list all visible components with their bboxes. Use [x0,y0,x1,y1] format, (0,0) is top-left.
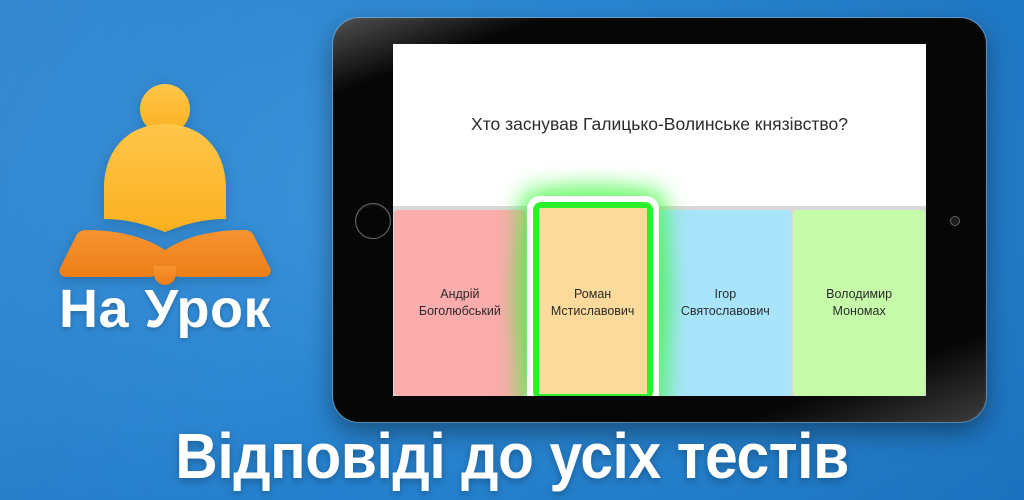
home-button-icon[interactable] [355,203,391,239]
answer-option-1-line1: Андрій [440,287,479,301]
answer-option-1[interactable]: Андрій Боголюбський [394,210,526,396]
answer-option-4-line1: Володимир [826,287,892,301]
brand-name-text: На Урок [36,282,294,336]
banner-tagline-text: Відповіді до усіх тестів [175,424,849,488]
answer-option-3-label: Ігор Святославович [681,286,770,320]
front-camera-icon [950,216,960,226]
answer-option-2-selected[interactable]: Роман Мстиславович [527,210,659,396]
question-text: Хто заснував Галицько-Волинське князівст… [471,114,848,136]
app-banner-image: На Урок Хто заснував Галицько-Волинське … [0,0,1024,500]
banner-tagline: Відповіді до усіх тестів [0,424,1024,488]
answer-option-3-line2: Святославович [681,304,770,318]
answer-option-2-line1: Роман [574,287,611,301]
bell-over-open-book-icon [36,76,294,288]
answer-option-2-line2: Мстиславович [551,304,635,318]
question-panel: Хто заснував Галицько-Волинське князівст… [393,44,926,206]
answer-option-3[interactable]: Ігор Святославович [660,210,792,396]
tablet-device: Хто заснував Галицько-Волинське князівст… [333,18,986,422]
tablet-screen: Хто заснував Галицько-Волинське князівст… [393,44,926,396]
answer-option-4-label: Володимир Мономах [826,286,892,320]
answer-option-1-line2: Боголюбський [419,304,501,318]
answer-options-row: Андрій Боголюбський Роман Мстиславович [393,210,926,396]
answer-option-1-label: Андрій Боголюбський [419,286,501,320]
brand-logo-block: На Урок [36,76,294,360]
answer-option-4[interactable]: Володимир Мономах [793,210,925,396]
answer-option-4-line2: Мономах [833,304,886,318]
answer-option-2-label: Роман Мстиславович [551,286,635,320]
answer-option-3-line1: Ігор [715,287,737,301]
